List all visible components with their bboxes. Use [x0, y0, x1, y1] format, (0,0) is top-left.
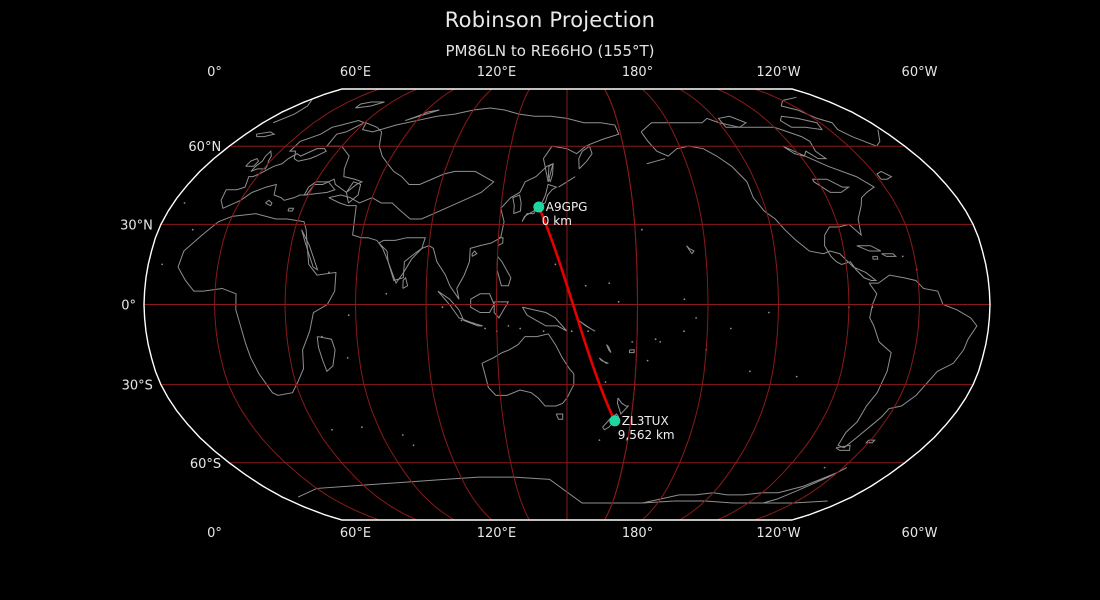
coastline-redsea [302, 230, 318, 270]
coastline-greenland [273, 99, 312, 123]
coastline-sri [403, 278, 408, 289]
lat-label: 0° [121, 299, 136, 314]
island-speck [768, 312, 770, 314]
coastline-hawaii [687, 246, 694, 254]
lon-label-bottom: 120°W [756, 526, 800, 541]
island-speck [543, 330, 545, 332]
lon-label-top: 180° [622, 65, 653, 80]
island-speck [571, 330, 573, 332]
coastline-hispaniola [881, 254, 895, 257]
island-speck [331, 429, 333, 431]
coastline-newcal [599, 358, 608, 363]
robinson-map: A9GPG0 kmZL3TUX9,562 km 0°60°E120°E180°1… [0, 0, 1100, 600]
coastline-madagascar [317, 337, 335, 372]
coastline-png [522, 307, 567, 331]
coastline-hainan [472, 251, 477, 256]
island-speck [655, 338, 657, 340]
lon-label-bottom: 120°E [477, 526, 517, 541]
lon-label-bottom: 0° [207, 526, 222, 541]
island-speck [608, 282, 610, 284]
coastlines-layer [161, 97, 977, 503]
lon-label-bottom: 180° [622, 526, 653, 541]
coastline-antarctica [298, 468, 847, 503]
island-speck [508, 325, 510, 327]
coastline-korea [513, 195, 521, 214]
coastline-crete [288, 208, 294, 211]
island-speck [599, 439, 601, 441]
island-speck [695, 317, 697, 319]
coastline-greenland [877, 130, 880, 147]
island-speck [519, 328, 521, 330]
coastline-namerica [641, 118, 876, 280]
island-speck [413, 444, 415, 446]
island-speck [730, 328, 732, 330]
island-speck [184, 202, 186, 204]
lon-label-top: 0° [207, 65, 222, 80]
island-speck [902, 256, 904, 258]
map-figure: Robinson Projection PM86LN to RE66HO (15… [0, 0, 1100, 600]
island-speck [348, 314, 350, 316]
coastline-samerica [838, 275, 977, 448]
coastline-svalbard [355, 102, 384, 108]
coastline-vanuatu [607, 345, 611, 353]
lon-label-bottom: 60°W [902, 526, 938, 541]
lon-label-top: 120°E [477, 65, 517, 80]
island-speck [749, 370, 751, 372]
lat-label: 60°S [190, 457, 221, 472]
great-circle-path [539, 207, 615, 421]
island-speck [587, 330, 589, 332]
lat-label: 60°N [188, 140, 221, 155]
island-speck [484, 328, 486, 330]
island-speck [659, 341, 661, 343]
lon-label-top: 60°W [902, 65, 938, 80]
island-speck [605, 381, 607, 383]
lat-label: 30°S [122, 379, 153, 394]
island-speck [402, 434, 404, 436]
island-speck [328, 272, 330, 274]
island-speck [472, 322, 474, 324]
lat-label: 30°N [120, 218, 153, 233]
island-speck [461, 320, 463, 322]
coastline-iceland [256, 132, 274, 137]
marker-distance-label: 0 km [542, 214, 572, 228]
coastline-fiji [630, 350, 635, 353]
island-speck [647, 360, 649, 362]
island-speck [618, 301, 620, 303]
island-speck [361, 426, 363, 428]
coastline-greenland [781, 97, 876, 146]
lon-label-bottom: 60°E [340, 526, 371, 541]
coastline-philippines [497, 256, 511, 285]
coastline-blacksea [304, 182, 335, 195]
marker-a9gpg[interactable] [533, 202, 544, 213]
island-speck [641, 229, 643, 231]
lon-label-top: 60°E [340, 65, 371, 80]
coastline-india-extra [379, 238, 425, 283]
island-speck [192, 229, 194, 231]
coastline-jamaica [873, 256, 878, 259]
island-speck [555, 264, 557, 266]
marker-distance-label: 9,562 km [618, 428, 675, 442]
island-speck [872, 306, 874, 308]
island-speck [683, 330, 685, 332]
island-speck [321, 336, 323, 338]
marker-callsign-label: A9GPG [546, 200, 588, 214]
island-speck [347, 357, 349, 359]
coastline-borneo [471, 294, 494, 313]
island-speck [684, 298, 686, 300]
island-speck [585, 285, 587, 287]
coastline-tasmania [556, 414, 563, 419]
coastline-kamchatka [579, 146, 592, 169]
island-speck [161, 264, 163, 266]
coastline-sicily [265, 200, 272, 205]
island-speck [824, 467, 826, 469]
island-speck [631, 341, 633, 343]
island-speck [796, 376, 798, 378]
path-line [539, 207, 615, 421]
coastline-newfound [877, 171, 891, 179]
coastline-cuba [857, 246, 881, 251]
coastline-gb [251, 151, 271, 171]
marker-callsign-label: ZL3TUX [622, 414, 669, 428]
coastline-aleutian [647, 159, 665, 164]
island-speck [385, 293, 387, 295]
island-speck [442, 306, 444, 308]
coastline-australia [482, 334, 574, 406]
marker-zl3tux[interactable] [609, 415, 620, 426]
coastline-nz-north [618, 398, 629, 414]
lon-label-top: 120°W [756, 65, 800, 80]
